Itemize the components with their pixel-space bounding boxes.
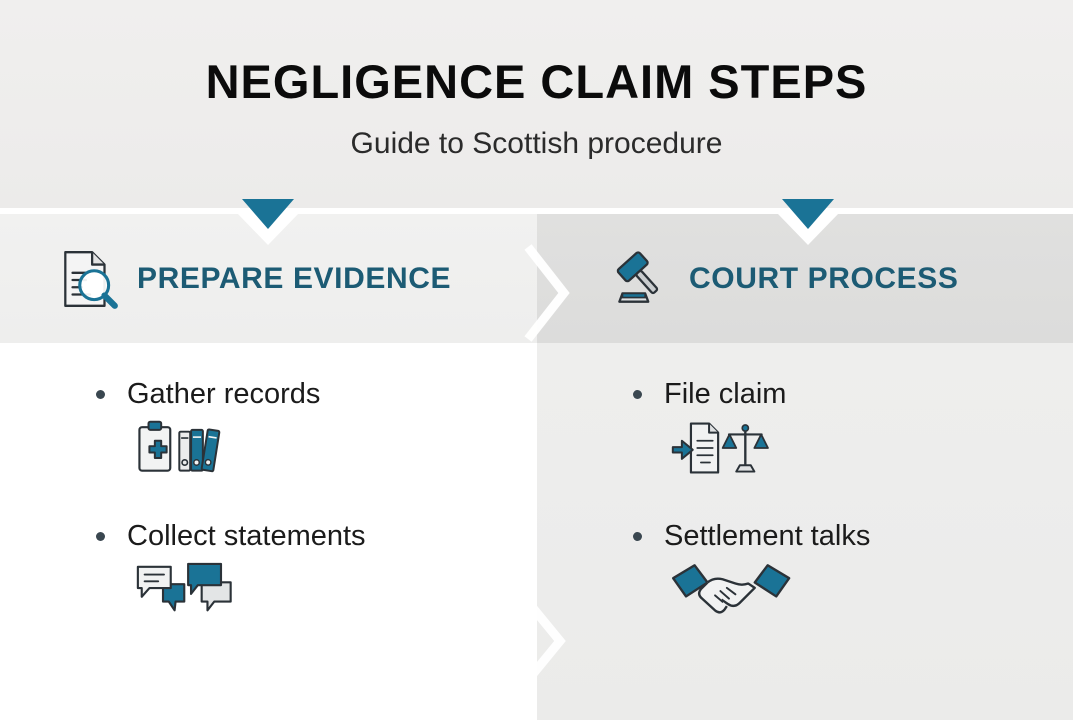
item-list: Gather records [96,379,537,621]
list-item-label: Collect statements [127,521,366,553]
bullet-icon [96,532,105,541]
column-body-row: Gather records [0,343,1073,720]
column-title: PREPARE EVIDENCE [137,262,451,296]
banner-seam-divider [0,208,1073,214]
column-body-prepare-evidence: Gather records [0,343,537,720]
handshake-icon [671,561,791,619]
column-body-court-process: File claim [537,343,1073,720]
speech-bubbles-icon [134,561,235,619]
bullet-icon [633,390,642,399]
file-document-scales-icon [671,419,771,477]
gavel-icon [607,246,673,312]
pointer-triangle-court-process [777,199,839,245]
column-header-band: PREPARE EVIDENCE COURT PROCESS [0,214,1073,343]
title-banner: NEGLIGENCE CLAIM STEPS Guide to Scottish… [0,0,1073,210]
list-item[interactable]: Settlement talks [633,521,1073,621]
bullet-icon [96,390,105,399]
column-title: COURT PROCESS [689,262,959,296]
list-item[interactable]: Gather records [96,379,537,479]
list-item-label: Settlement talks [664,521,870,553]
document-magnifier-icon [55,246,121,312]
medical-clipboard-binders-icon [134,419,221,477]
pointer-triangle-prepare-evidence [237,199,299,245]
bullet-icon [633,532,642,541]
list-item[interactable]: File claim [633,379,1073,479]
list-item-label: Gather records [127,379,320,411]
infographic-root: NEGLIGENCE CLAIM STEPS Guide to Scottish… [0,0,1073,720]
list-item[interactable]: Collect statements [96,521,537,621]
page-subtitle: Guide to Scottish procedure [0,126,1073,162]
item-list: File claim [633,379,1073,621]
page-title: NEGLIGENCE CLAIM STEPS [0,58,1073,105]
list-item-label: File claim [664,379,786,411]
